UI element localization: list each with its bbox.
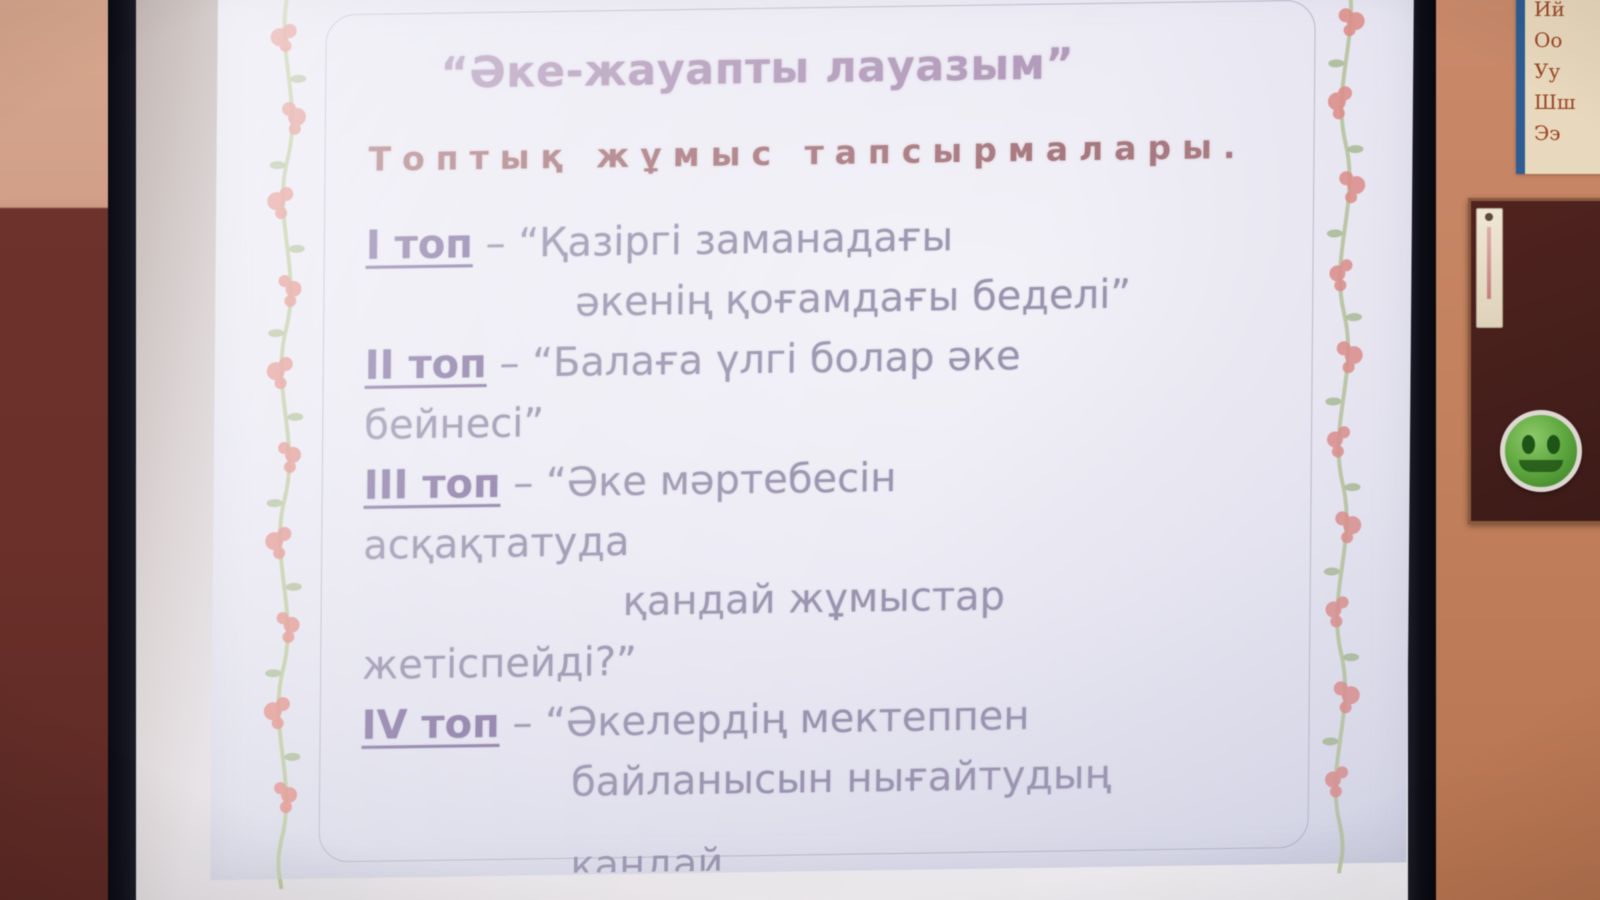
slide-subtitle: Топтық жұмыс тапсырмалары. bbox=[368, 127, 1246, 179]
group-3-dash: – bbox=[500, 460, 546, 507]
alphabet-letter-3: Шш bbox=[1525, 87, 1600, 118]
smiley-eye-right bbox=[1547, 435, 1560, 454]
group-4-dash: – bbox=[500, 700, 546, 747]
group-3-tag: III топ bbox=[364, 461, 501, 509]
group-4-text-line1: “Әкелердің мектеппен bbox=[545, 693, 1030, 746]
smiley-mouth bbox=[1519, 460, 1563, 472]
thermometer-mercury bbox=[1487, 227, 1491, 299]
group-2-tag: II топ bbox=[365, 341, 487, 389]
group-2-dash: – bbox=[487, 340, 533, 387]
group-3-text-line4: жетіспейді?” bbox=[362, 639, 637, 689]
group-2-text-line1: “Балаға үлгі болар әке bbox=[532, 333, 1021, 386]
classroom-projection-photo: “Әке-жауапты лауазым” Топтық жұмыс тапсы… bbox=[0, 0, 1600, 900]
group-4-tag: IV топ bbox=[361, 701, 499, 749]
alphabet-poster: Йй Оо Уу Шш Ээ bbox=[1516, 0, 1600, 174]
thermometer-bulb bbox=[1485, 213, 1493, 221]
group-3-text-line2: асқақтатуда bbox=[363, 519, 630, 569]
screen-frame-left-edge bbox=[108, 0, 136, 900]
smiley-eye-left bbox=[1522, 435, 1535, 454]
green-smiley-icon bbox=[1500, 410, 1582, 492]
group-2-text-line2: бейнесі” bbox=[364, 400, 544, 449]
group-task-list: I топ – “Қазіргі заманадағы әкенің қоғам… bbox=[361, 201, 1356, 816]
alphabet-letter-1: Оо bbox=[1525, 25, 1600, 56]
slide-title: “Әке-жауапты лауазым” bbox=[217, 36, 1297, 102]
thermometer-icon bbox=[1476, 208, 1503, 328]
alphabet-letter-0: Йй bbox=[1525, 0, 1600, 25]
slide-text-body: “Әке-жауапты лауазым” Топтық жұмыс тапсы… bbox=[210, 0, 1414, 880]
group-4-text-line2: байланысын нығайтудың bbox=[571, 752, 1111, 806]
cut-off-bottom-line: қандай bbox=[360, 837, 980, 876]
projected-slide: “Әке-жауапты лауазым” Топтық жұмыс тапсы… bbox=[210, 0, 1414, 880]
group-3-text-line3: қандай жұмыстар bbox=[622, 573, 1005, 625]
alphabet-letter-4: Ээ bbox=[1525, 118, 1600, 149]
group-1-text-line1: “Қазіргі заманадағы bbox=[518, 214, 953, 266]
cut-off-text: қандай bbox=[570, 841, 723, 876]
group-3-text-line1: “Әке мәртебесін bbox=[546, 455, 897, 506]
group-1-dash: – bbox=[473, 221, 519, 268]
group-1-tag: I топ bbox=[366, 221, 474, 269]
alphabet-letter-2: Уу bbox=[1525, 56, 1600, 87]
left-wall bbox=[0, 0, 112, 900]
group-1-text-line2: әкенің қоғамдағы беделі” bbox=[575, 271, 1131, 325]
